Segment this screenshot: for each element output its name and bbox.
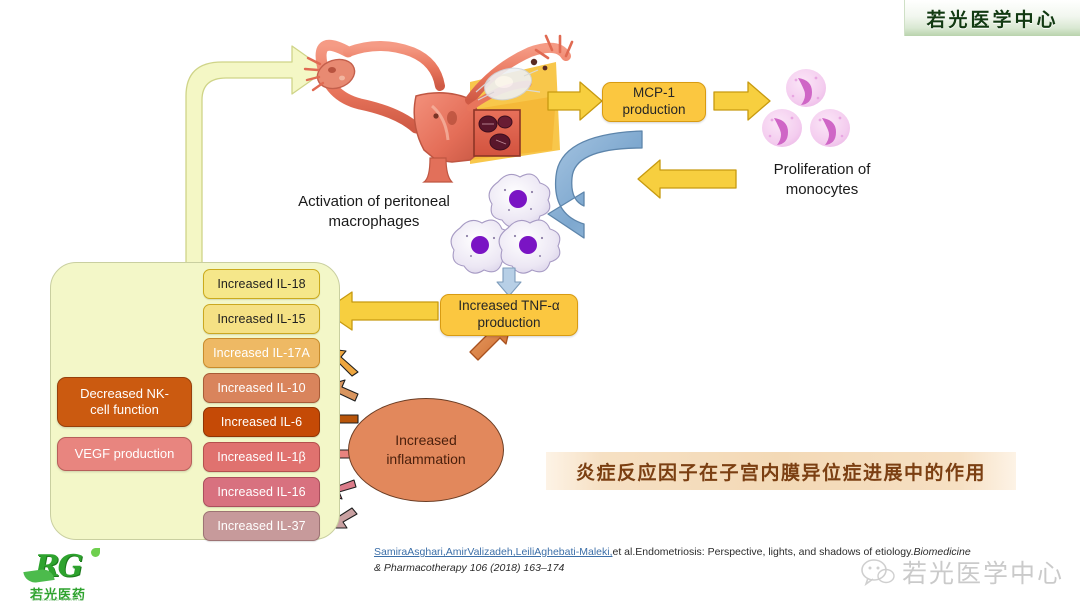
mcp1-line1: MCP-1 <box>633 85 675 100</box>
citation-block: SamiraAsghari,AmirValizadeh,LeiliAghebat… <box>374 544 974 577</box>
arrow-mcp1-to-monocytes <box>714 82 770 120</box>
macrophage-label-line2: macrophages <box>329 213 420 230</box>
arrow-blue-curved-recruitment <box>548 131 642 238</box>
tnf-alpha-production-box: Increased TNF-α production <box>440 294 578 336</box>
cytokine-label: Increased IL-17A <box>213 346 310 360</box>
slide-canvas: 若光医学中心 Increased IL-18Increased IL-15Inc… <box>0 0 1080 608</box>
citation-title: Endometriosis: Perspective, lights, and … <box>635 546 913 558</box>
inflammation-line1: Increased <box>395 432 456 448</box>
effect-label-line1: VEGF production <box>75 446 175 461</box>
effect-label-line2: cell function <box>90 402 159 417</box>
sprout-icon <box>91 548 100 557</box>
inflammation-line2: inflammation <box>386 451 465 467</box>
effect-label-line1: Decreased NK- <box>80 386 169 401</box>
ruoguang-logo: RG 若光医药 RUOGUANG MEDICINE <box>6 546 110 604</box>
monocyte-cells <box>762 69 850 147</box>
feedback-loop-arrow <box>186 46 326 292</box>
cytokine-label: Increased IL-15 <box>217 312 305 326</box>
brand-name-cn: 若光医学中心 <box>926 5 1058 32</box>
cytokine-box-6: Increased IL-16 <box>203 477 320 507</box>
citation-authors[interactable]: SamiraAsghari,AmirValizadeh,LeiliAghebat… <box>374 546 613 558</box>
arrow-macrophage-to-tnf <box>497 268 521 296</box>
mcp1-line2: production <box>622 102 685 117</box>
cytokine-box-0: Increased IL-18 <box>203 269 320 299</box>
mcp1-production-box: MCP-1 production <box>602 82 706 122</box>
cytokine-box-2: Increased IL-17A <box>203 338 320 368</box>
cytokine-label: Increased IL-1β <box>217 450 306 464</box>
brand-plate-header: 若光医学中心 <box>904 0 1080 36</box>
caption-text: 炎症反应因子在子宫内膜异位症进展中的作用 <box>576 458 986 485</box>
cytokine-box-4: Increased IL-6 <box>203 407 320 437</box>
cytokine-label: Increased IL-37 <box>217 519 305 533</box>
citation-etal: et al. <box>613 546 636 558</box>
arrow-proliferation-to-loop <box>638 160 736 198</box>
effect-box-0: Decreased NK-cell function <box>57 377 192 427</box>
cytokine-label: Increased IL-16 <box>217 485 305 499</box>
cytokine-box-1: Increased IL-15 <box>203 304 320 334</box>
cytokine-label: Increased IL-10 <box>217 381 305 395</box>
cytokine-label: Increased IL-6 <box>221 415 302 429</box>
tnf-line2: production <box>477 315 540 330</box>
arrow-tnf-to-cytokines <box>324 292 438 330</box>
endometriosis-uterus-illustration <box>305 36 572 182</box>
effect-box-1: VEGF production <box>57 437 192 471</box>
cytokine-box-3: Increased IL-10 <box>203 373 320 403</box>
monocyte-label-line2: monocytes <box>786 181 859 198</box>
monocyte-label-line1: Proliferation of <box>774 161 871 178</box>
logo-pinyin: RUOGUANG MEDICINE <box>6 597 110 602</box>
increased-inflammation-node: Increased inflammation <box>348 398 504 502</box>
arrow-uterus-to-mcp1 <box>548 82 602 120</box>
cytokine-box-7: Increased IL-37 <box>203 511 320 541</box>
macrophage-activation-label: Activation of peritoneal macrophages <box>274 192 474 232</box>
tnf-line1: Increased TNF-α <box>458 298 559 313</box>
caption-banner: 炎症反应因子在子宫内膜异位症进展中的作用 <box>546 452 1016 490</box>
cytokine-label: Increased IL-18 <box>217 277 305 291</box>
monocyte-proliferation-label: Proliferation of monocytes <box>738 160 906 200</box>
cytokine-box-5: Increased IL-1β <box>203 442 320 472</box>
macrophage-label-line1: Activation of peritoneal <box>298 193 450 210</box>
